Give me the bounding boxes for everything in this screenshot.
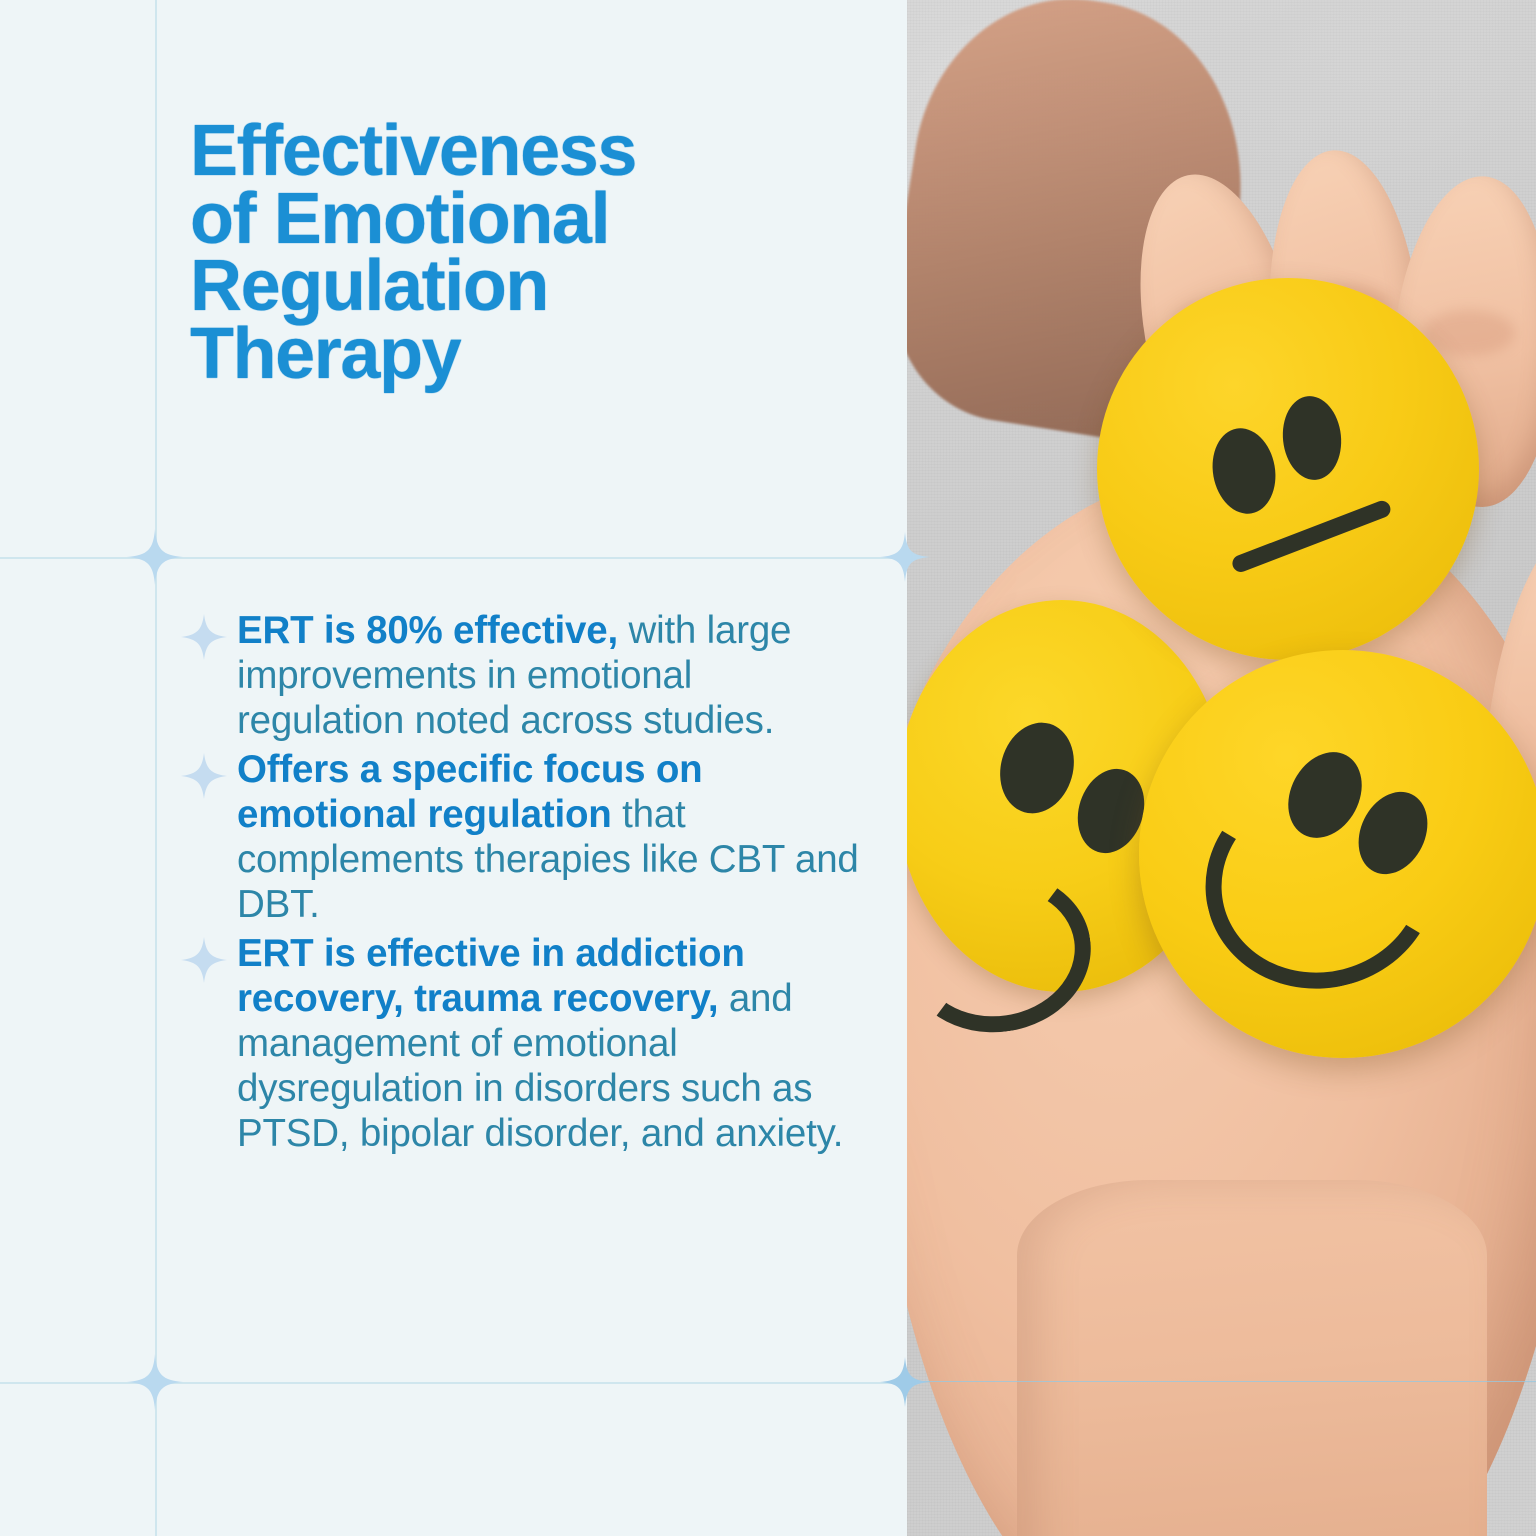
list-item-lead: ERT is effective in addiction recovery, …	[237, 932, 745, 1020]
neutral-eye-left	[1206, 423, 1282, 518]
sparkle-icon	[179, 751, 237, 805]
sparkle-icon	[179, 612, 237, 666]
bullets-card: ERT is 80% effective, with large improve…	[157, 560, 907, 1382]
page-title: Effectiveness of Emotional Regulation Th…	[190, 118, 890, 389]
list-item: Offers a specific focus on emotional reg…	[179, 747, 869, 927]
list-item-text: ERT is 80% effective, with large improve…	[237, 608, 869, 743]
bullet-list: ERT is 80% effective, with large improve…	[179, 608, 869, 1160]
list-item-text: Offers a specific focus on emotional reg…	[237, 747, 869, 927]
grid-line-overlay	[907, 1381, 1536, 1382]
infographic-canvas: Effectiveness of Emotional Regulation Th…	[0, 0, 1536, 1536]
grid-line-horizontal-top	[0, 557, 907, 559]
list-item-text: ERT is effective in addiction recovery, …	[237, 931, 869, 1156]
happy-mouth	[1183, 751, 1459, 1013]
list-item: ERT is 80% effective, with large improve…	[179, 608, 869, 743]
list-item-lead: ERT is 80% effective,	[237, 609, 618, 652]
neutral-eye-right	[1279, 393, 1345, 483]
hand-with-smiley-faces-photo	[907, 0, 1536, 1536]
sparkle-icon	[179, 935, 237, 989]
sad-eye-left	[990, 714, 1085, 822]
list-item: ERT is effective in addiction recovery, …	[179, 931, 869, 1156]
grid-line-horizontal-bottom	[0, 1382, 907, 1384]
title-card: Effectiveness of Emotional Regulation Th…	[157, 0, 907, 557]
neutral-face	[1097, 278, 1479, 660]
happy-face	[1139, 650, 1536, 1058]
wrist	[1017, 1180, 1487, 1536]
left-content-pane: Effectiveness of Emotional Regulation Th…	[0, 0, 907, 1536]
